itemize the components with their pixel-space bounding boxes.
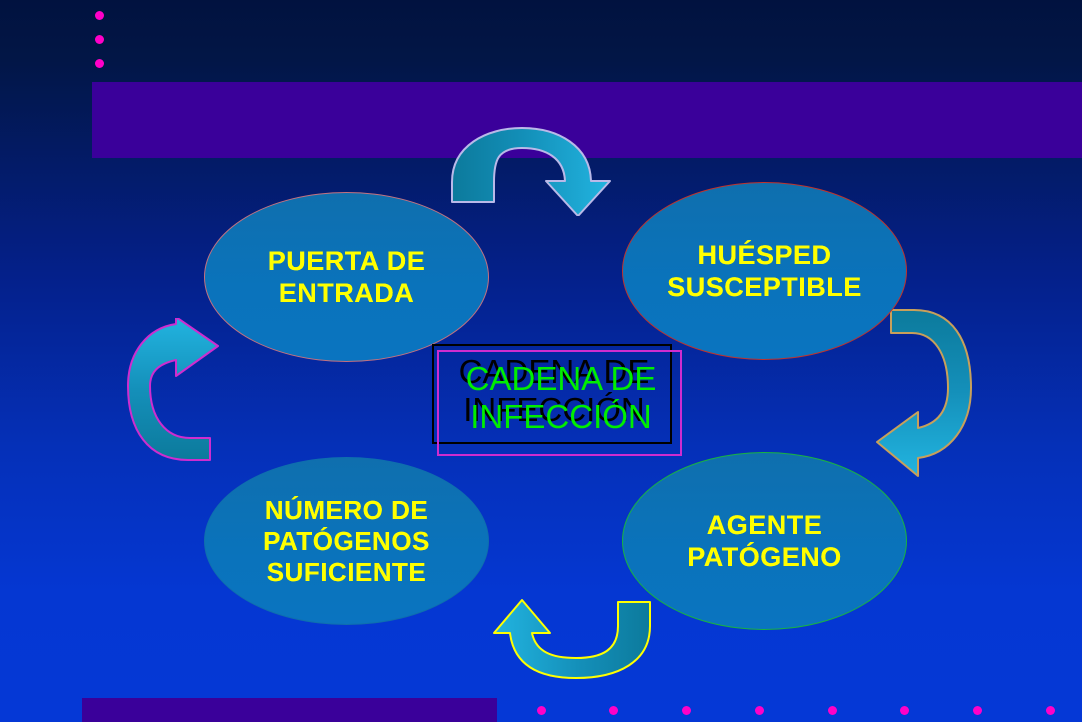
center-title-block[interactable]: CADENA DE INFECCIÓN CADENA DE INFECCIÓN <box>432 344 682 456</box>
slide-canvas: PUERTA DE ENTRADA HUÉSPED SUSCEPTIBLE NÚ… <box>0 0 1082 722</box>
bottom-dot-8 <box>1046 706 1055 715</box>
arrow-right-top-to-bottom <box>874 308 984 480</box>
bottom-dot-7 <box>973 706 982 715</box>
bottom-dot-2 <box>609 706 618 715</box>
bottom-dot-1 <box>537 706 546 715</box>
bottom-dot-5 <box>828 706 837 715</box>
bottom-dot-3 <box>682 706 691 715</box>
bullet-dot-2 <box>95 35 104 44</box>
arrow-bottom-right-to-left <box>452 598 652 682</box>
node-label-numero-de-patogenos-suficiente: NÚMERO DE PATÓGENOS SUFICIENTE <box>263 495 430 588</box>
node-label-puerta-de-entrada: PUERTA DE ENTRADA <box>268 245 426 309</box>
node-agente-patogeno[interactable]: AGENTE PATÓGENO <box>622 452 907 630</box>
center-title: CADENA DE INFECCIÓN <box>441 360 681 436</box>
arrow-top-left-to-right <box>450 126 670 216</box>
bottom-dot-4 <box>755 706 764 715</box>
node-label-huesped-susceptible: HUÉSPED SUSCEPTIBLE <box>667 239 862 303</box>
bottom-dot-6 <box>900 706 909 715</box>
bullet-dot-3 <box>95 59 104 68</box>
node-numero-de-patogenos-suficiente[interactable]: NÚMERO DE PATÓGENOS SUFICIENTE <box>204 457 489 625</box>
node-label-agente-patogeno: AGENTE PATÓGENO <box>687 509 842 573</box>
node-huesped-susceptible[interactable]: HUÉSPED SUSCEPTIBLE <box>622 182 907 360</box>
bottom-accent-bar <box>82 698 497 722</box>
node-puerta-de-entrada[interactable]: PUERTA DE ENTRADA <box>204 192 489 362</box>
bullet-dot-1 <box>95 11 104 20</box>
arrow-left-bottom-to-top <box>118 318 226 462</box>
